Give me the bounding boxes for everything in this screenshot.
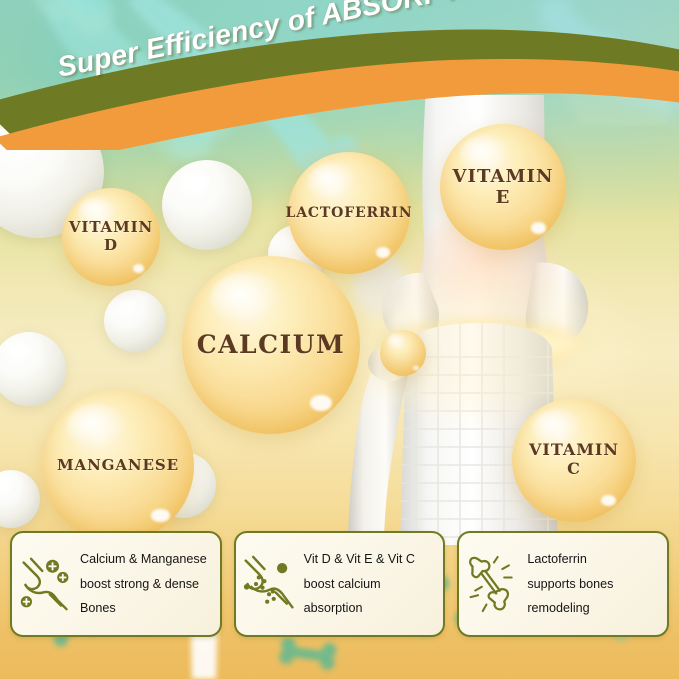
decor-sphere bbox=[0, 470, 40, 528]
card-text-line: boost strong & dense bbox=[80, 572, 207, 597]
joint-plus-icon bbox=[18, 553, 74, 615]
bubble-label: VITAMIND bbox=[69, 219, 153, 254]
card-text-line: supports bones bbox=[527, 572, 613, 597]
card-text-line: boost calcium bbox=[304, 572, 415, 597]
nutrient-bubble-lactoferrin: LACTOFERRIN bbox=[288, 152, 410, 274]
joint-plus-icon bbox=[18, 553, 74, 615]
card-lactoferrin[interactable]: Lactoferrinsupports bonesremodeling bbox=[457, 531, 669, 637]
bubble-label-line1: MANGANESE bbox=[57, 456, 179, 474]
benefit-cards: Calcium & Manganeseboost strong & denseB… bbox=[10, 531, 669, 637]
nutrient-bubble-vitamin-d: VITAMIND bbox=[62, 188, 160, 286]
bone-remodeling-icon bbox=[465, 553, 521, 615]
bubble-label-line1: LACTOFERRIN bbox=[286, 205, 413, 221]
card-calcium-manganese[interactable]: Calcium & Manganeseboost strong & denseB… bbox=[10, 531, 222, 637]
card-text-line: Vit D & Vit E & Vit C bbox=[304, 547, 415, 572]
bubble-label: VITAMINC bbox=[529, 441, 619, 479]
decor-sphere bbox=[0, 332, 66, 406]
bubble-label-line1: VITAMIN bbox=[529, 440, 619, 459]
card-text-line: Calcium & Manganese bbox=[80, 547, 207, 572]
card-text: Vit D & Vit E & Vit Cboost calciumabsorp… bbox=[304, 547, 415, 621]
bubble-label: CALCIUM bbox=[197, 330, 345, 360]
nutrient-bubble-small-drop bbox=[380, 330, 426, 376]
card-text-line: Bones bbox=[80, 596, 207, 621]
bone-remodeling-icon bbox=[465, 553, 521, 615]
bubble-label-line2: E bbox=[496, 187, 511, 208]
card-vitamins[interactable]: Vit D & Vit E & Vit Cboost calciumabsorp… bbox=[234, 531, 446, 637]
decor-sphere bbox=[162, 160, 252, 250]
card-text-line: remodeling bbox=[527, 596, 613, 621]
bubble-label-line2: C bbox=[567, 459, 581, 478]
card-text-line: Lactoferrin bbox=[527, 547, 613, 572]
joint-nutrient-icon bbox=[242, 553, 298, 615]
bubble-label-line1: VITAMIN bbox=[69, 218, 153, 236]
bubble-label-line1: VITAMIN bbox=[452, 166, 553, 187]
decor-sphere bbox=[104, 290, 166, 352]
nutrient-bubble-calcium: CALCIUM bbox=[182, 256, 360, 434]
nutrient-bubble-manganese: MANGANESE bbox=[42, 390, 194, 542]
bubble-label: MANGANESE bbox=[57, 457, 179, 475]
card-text: Lactoferrinsupports bonesremodeling bbox=[527, 547, 613, 621]
bubble-label: LACTOFERRIN bbox=[286, 205, 413, 222]
joint-nutrient-icon bbox=[242, 553, 298, 615]
bubble-label-line1: CALCIUM bbox=[197, 330, 345, 359]
poster-canvas: VITAMINDLACTOFERRINVITAMINECALCIUMMANGAN… bbox=[0, 0, 679, 679]
nutrient-bubble-vitamin-e: VITAMINE bbox=[440, 124, 566, 250]
bubble-label-line2: D bbox=[104, 236, 118, 254]
bubble-label: VITAMINE bbox=[452, 166, 553, 208]
nutrient-bubble-vitamin-c: VITAMINC bbox=[512, 398, 636, 522]
card-text: Calcium & Manganeseboost strong & denseB… bbox=[80, 547, 207, 621]
card-text-line: absorption bbox=[304, 596, 415, 621]
